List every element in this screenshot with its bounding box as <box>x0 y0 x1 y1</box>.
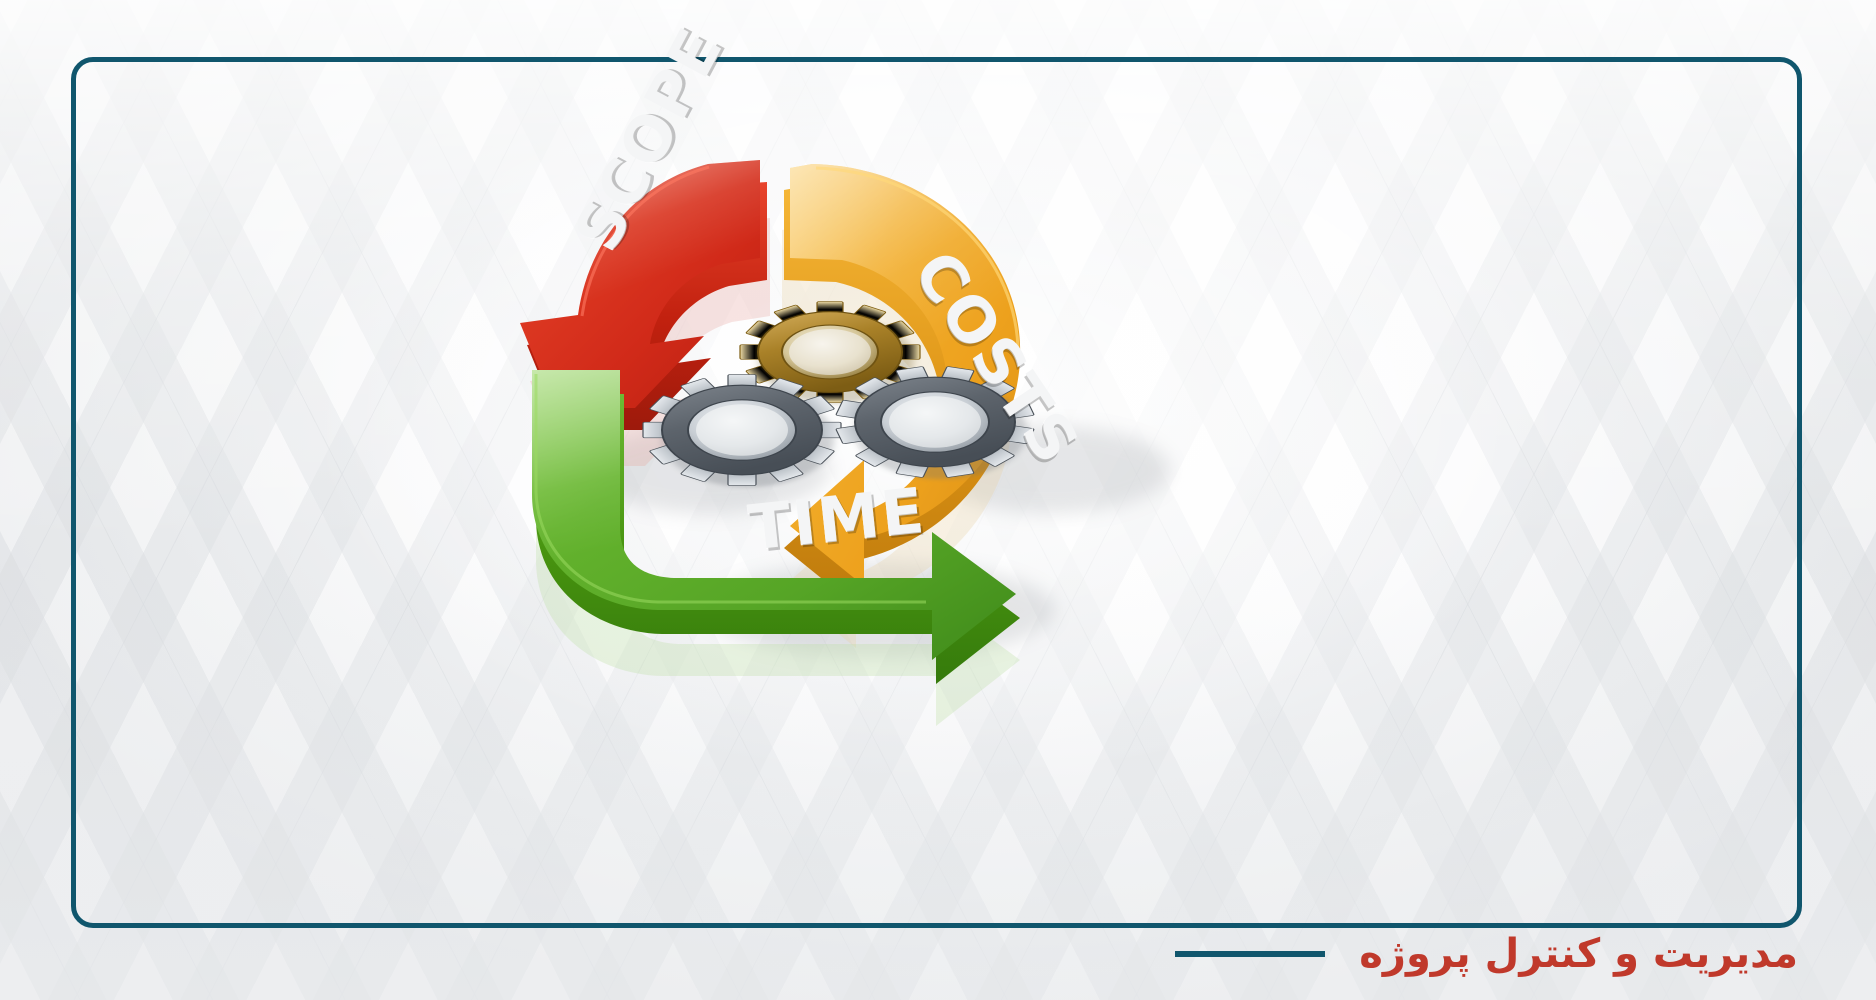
slide-canvas: SCOPE COSTS TIME مدیریت و کنترل پروژه <box>0 0 1876 1000</box>
footer: مدیریت و کنترل پروژه <box>1175 934 1798 974</box>
page-title-fa: مدیریت و کنترل پروژه <box>1359 934 1798 974</box>
footer-rule <box>1175 951 1325 957</box>
